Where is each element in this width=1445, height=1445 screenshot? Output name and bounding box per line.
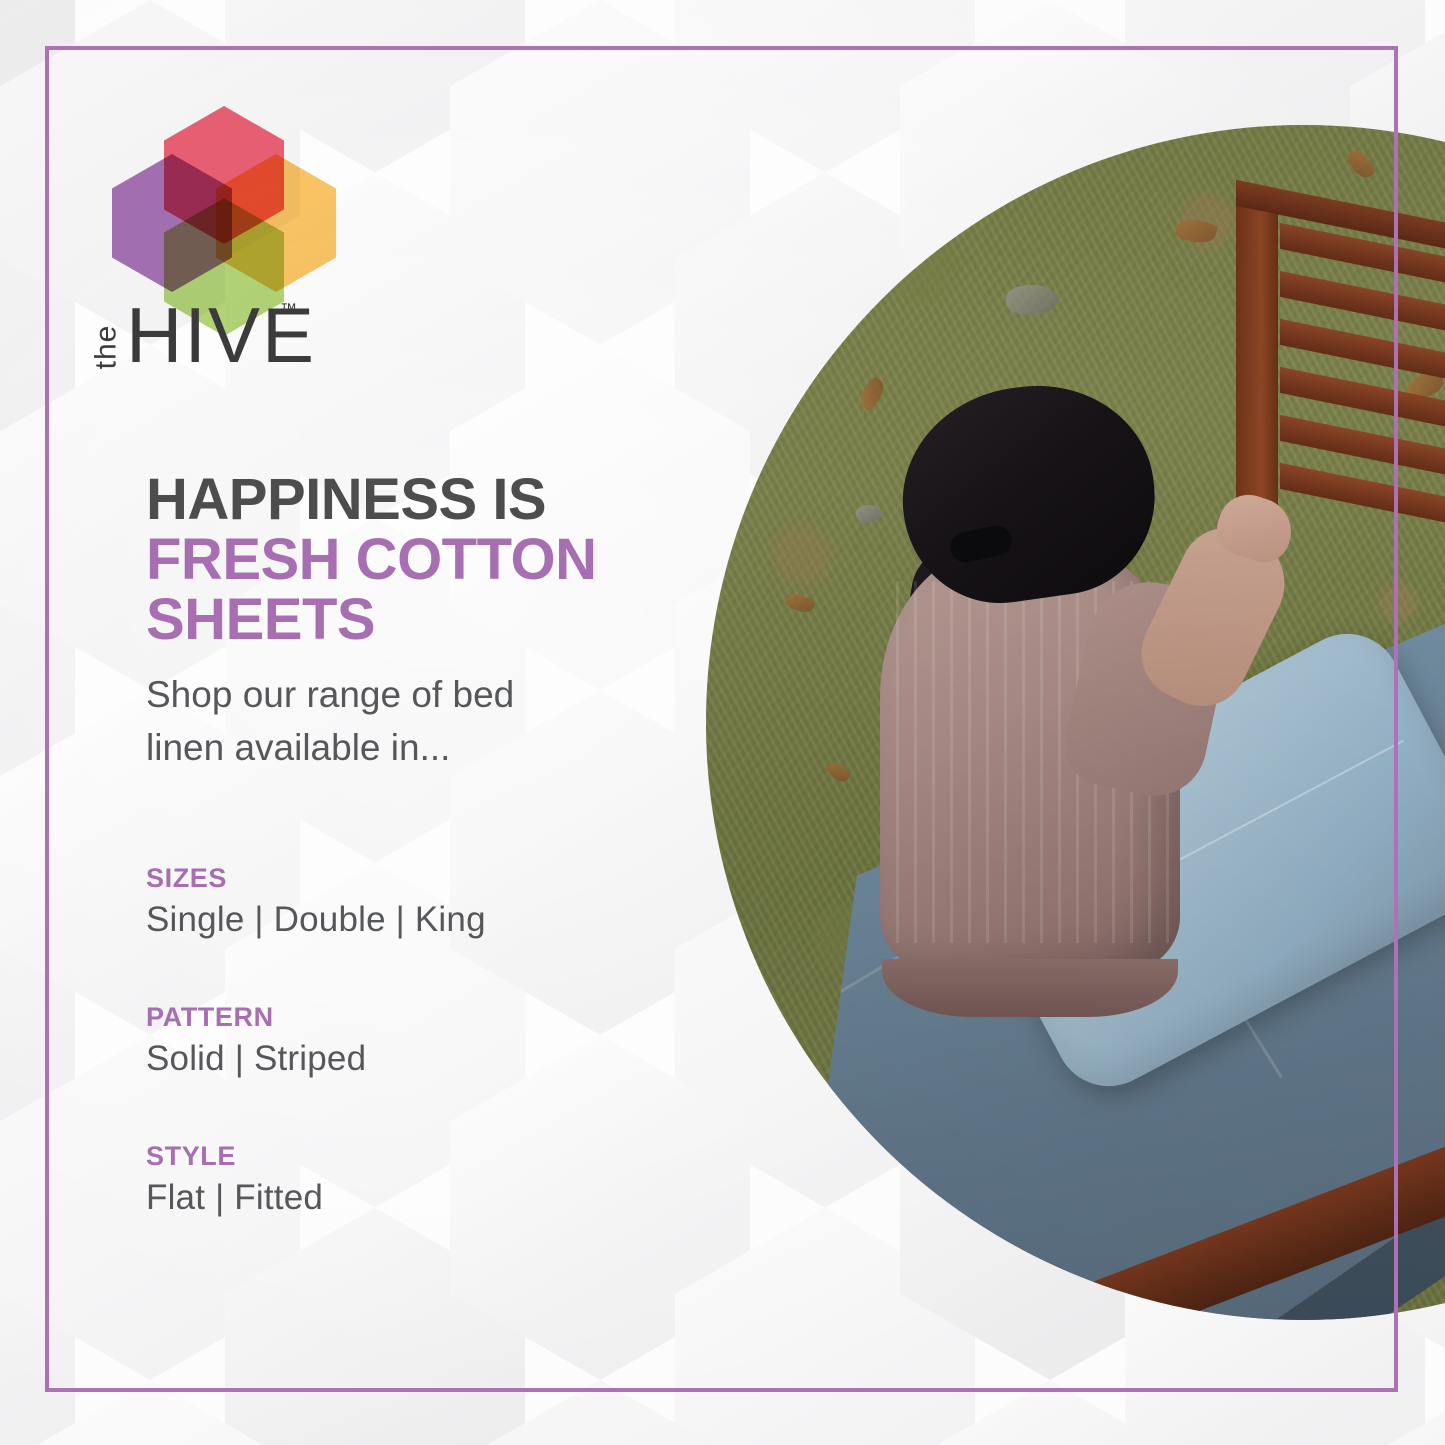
left-content-panel: the HIVE ™ HAPPINESS IS FRESH COTTON SHE… [0, 0, 706, 1445]
wordmark-the: the [89, 325, 123, 370]
brand-wordmark: the HIVE ™ [88, 296, 368, 384]
hive-flower-logo [112, 106, 312, 286]
product-specs-list: SIZES Single | Double | King PATTERN Sol… [146, 863, 626, 1280]
photo-shading-overlay [706, 125, 1445, 1320]
headline-line-1: HAPPINESS IS [146, 470, 686, 530]
subtitle-line-1: Shop our range of bed [146, 668, 576, 721]
headline-line-2: FRESH COTTON [146, 530, 686, 590]
spec-group-pattern: PATTERN Solid | Striped [146, 1002, 626, 1079]
spec-value-style: Flat | Fitted [146, 1178, 626, 1218]
spec-value-pattern: Solid | Striped [146, 1039, 626, 1079]
spec-group-sizes: SIZES Single | Double | King [146, 863, 626, 940]
spec-group-style: STYLE Flat | Fitted [146, 1141, 626, 1218]
trademark-symbol: ™ [280, 300, 297, 320]
spec-label-pattern: PATTERN [146, 1002, 626, 1033]
spec-value-sizes: Single | Double | King [146, 900, 626, 940]
hero-photo-circle [706, 125, 1445, 1320]
subtitle-line-2: linen available in... [146, 721, 576, 774]
spec-label-style: STYLE [146, 1141, 626, 1172]
headline-block: HAPPINESS IS FRESH COTTON SHEETS [146, 470, 686, 650]
hero-photo [706, 125, 1445, 1320]
headline-line-3: SHEETS [146, 590, 686, 650]
subtitle-block: Shop our range of bed linen available in… [146, 668, 576, 774]
spec-label-sizes: SIZES [146, 863, 626, 894]
